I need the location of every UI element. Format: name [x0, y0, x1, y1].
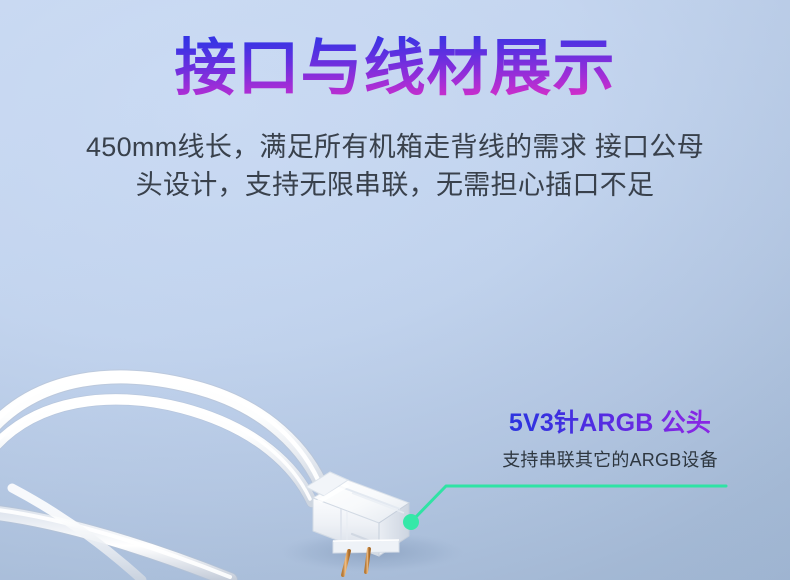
connector-callout: 5V3针ARGB 公头 支持串联其它的ARGB设备 [460, 408, 760, 472]
callout-subtitle: 支持串联其它的ARGB设备 [460, 446, 760, 472]
callout-title: 5V3针ARGB 公头 [460, 408, 760, 438]
subtitle-line-2: 头设计，支持无限串联，无需担心插口不足 [50, 166, 740, 204]
product-banner: 接口与线材展示 450mm线长，满足所有机箱走背线的需求 接口公母 头设计，支持… [0, 0, 790, 580]
subtitle-line-1: 450mm线长，满足所有机箱走背线的需求 接口公母 [50, 128, 740, 166]
page-subtitle: 450mm线长，满足所有机箱走背线的需求 接口公母 头设计，支持无限串联，无需担… [50, 128, 740, 205]
ribbon-cable [0, 374, 324, 580]
page-title: 接口与线材展示 [0, 36, 790, 103]
